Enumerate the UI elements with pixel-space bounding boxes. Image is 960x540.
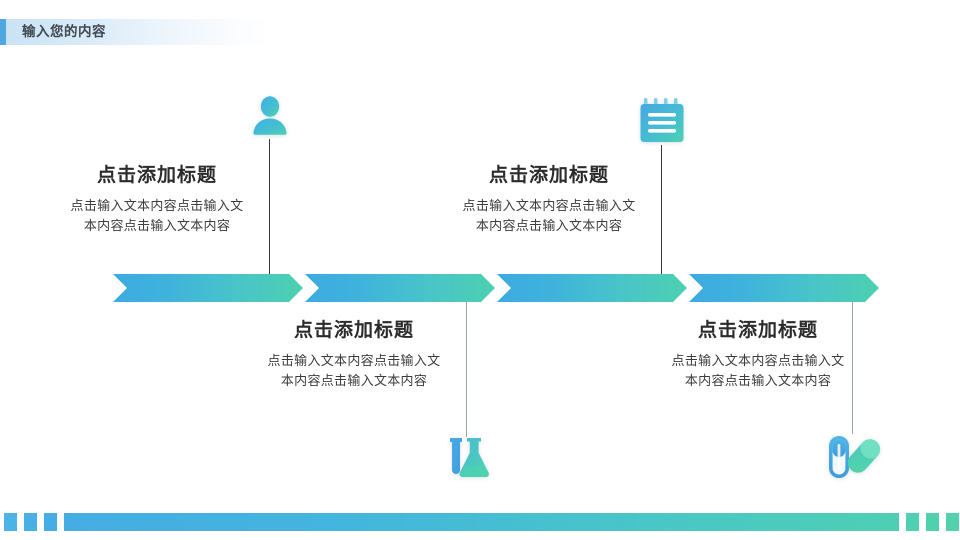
step-text-block-4: 点击添加标题 点击输入文本内容点击输入文本内容点击输入文本内容 [653, 320, 863, 391]
step-body-3: 点击输入文本内容点击输入文本内容点击输入文本内容 [444, 196, 654, 236]
connector-line-2 [466, 301, 467, 437]
step-title-3: 点击添加标题 [444, 165, 654, 188]
step-body-4: 点击输入文本内容点击输入文本内容点击输入文本内容 [653, 351, 863, 391]
footer-segment-right-2 [926, 513, 939, 531]
connector-line-1 [269, 139, 270, 275]
footer-segment-left-2 [24, 513, 37, 531]
connector-line-3 [661, 145, 662, 275]
step-body-2: 点击输入文本内容点击输入文本内容点击输入文本内容 [249, 351, 459, 391]
user-icon [244, 92, 296, 144]
flask-icon [438, 430, 496, 488]
step-title-2: 点击添加标题 [249, 320, 459, 343]
footer-segment-right-1 [906, 513, 919, 531]
footer-segment-left-3 [44, 513, 57, 531]
step-chevron-1[interactable] [113, 274, 303, 302]
notepad-icon [637, 95, 687, 147]
footer-segment-right-3 [946, 513, 959, 531]
step-text-block-2: 点击添加标题 点击输入文本内容点击输入文本内容点击输入文本内容 [249, 320, 459, 391]
capsule-icon [820, 428, 882, 486]
footer-main-bar [64, 513, 899, 531]
footer-decoration-bar [0, 513, 960, 531]
step-text-block-1: 点击添加标题 点击输入文本内容点击输入文本内容点击输入文本内容 [52, 165, 262, 236]
step-title-4: 点击添加标题 [653, 320, 863, 343]
step-text-block-3: 点击添加标题 点击输入文本内容点击输入文本内容点击输入文本内容 [444, 165, 654, 236]
step-body-1: 点击输入文本内容点击输入文本内容点击输入文本内容 [52, 196, 262, 236]
slide-canvas: 点击添加标题 点击输入文本内容点击输入文本内容点击输入文本内容 点击添加标题 点… [0, 0, 960, 540]
step-title-1: 点击添加标题 [52, 165, 262, 188]
footer-segment-left-1 [4, 513, 17, 531]
step-chevron-3[interactable] [497, 274, 687, 302]
step-chevron-4[interactable] [689, 274, 879, 302]
step-chevron-2[interactable] [305, 274, 495, 302]
